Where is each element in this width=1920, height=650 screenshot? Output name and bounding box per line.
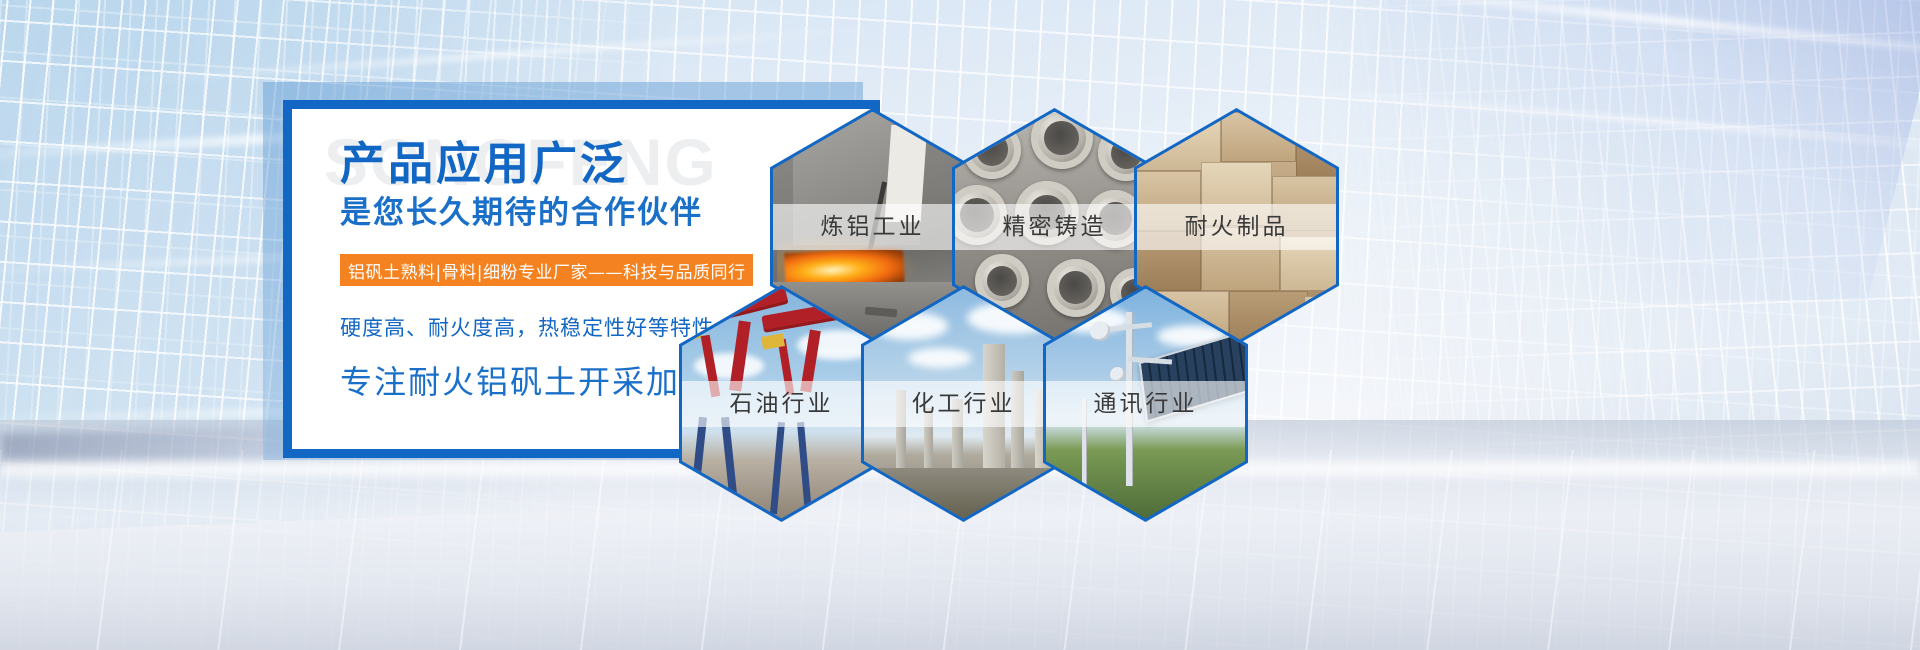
hexagon-label: 精密铸造 [955, 204, 1154, 250]
promotional-banner: SONGFENG 产品应用广泛 是您长久期待的合作伙伴 铝矾土熟料|骨料|细粉专… [0, 0, 1920, 650]
hexagon-label: 石油行业 [682, 381, 881, 427]
hexagon-label: 化工行业 [864, 381, 1063, 427]
industry-hexagon-grid: 炼铝工业 精密铸造 [0, 0, 1920, 650]
hexagon-label: 通讯行业 [1046, 381, 1245, 427]
hexagon-label: 耐火制品 [1137, 204, 1336, 250]
hexagon-label: 炼铝工业 [773, 204, 972, 250]
